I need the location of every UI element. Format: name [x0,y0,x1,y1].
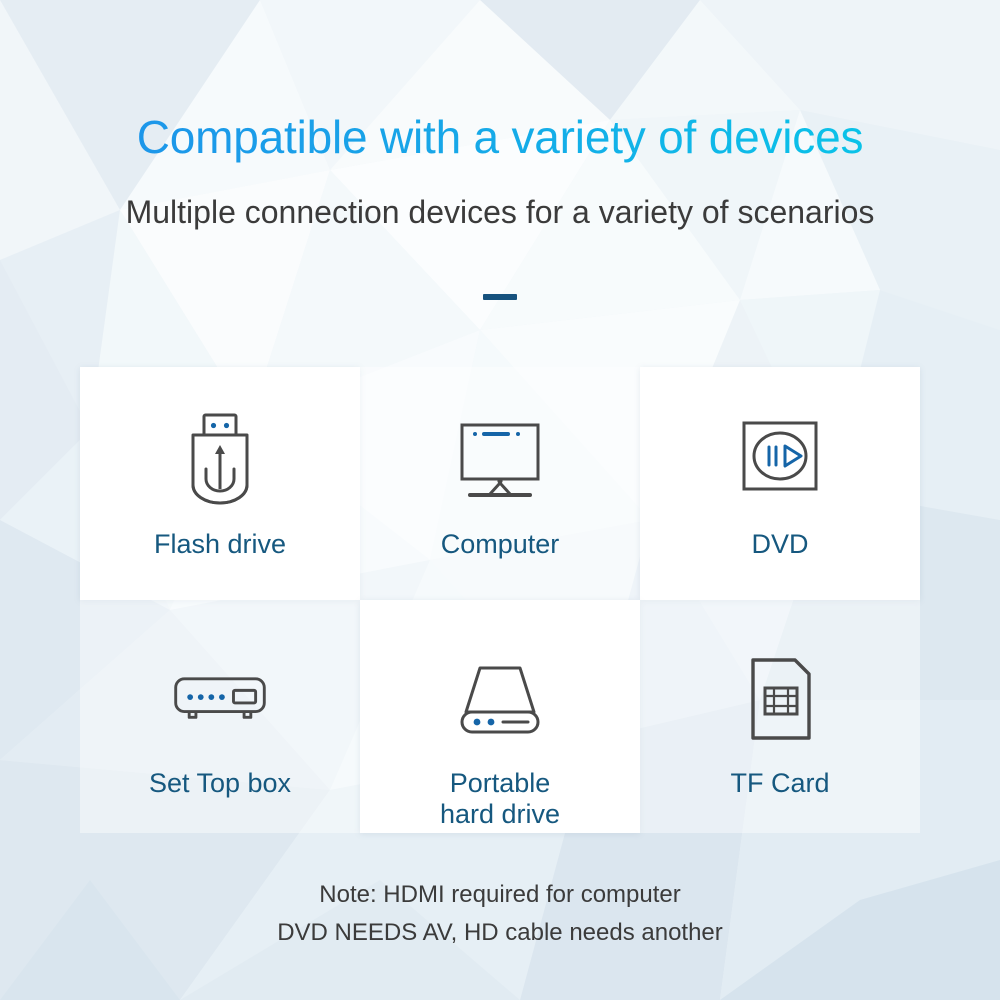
device-card-grid: Flash drive Computer [80,367,920,837]
device-card-set-top-box[interactable]: Set Top box [80,600,360,833]
footer-note-line-2: DVD NEEDS AV, HD cable needs another [0,914,1000,952]
tf-card-icon [728,648,832,752]
device-card-computer[interactable]: Computer [360,367,640,600]
footer-note-line-1: Note: HDMI required for computer [0,876,1000,914]
section-divider [483,294,517,300]
device-card-label: TF Card [730,768,829,799]
page-title: Compatible with a variety of devices [0,108,1000,166]
device-card-dvd[interactable]: DVD [640,367,920,600]
page-subtitle: Multiple connection devices for a variet… [0,192,1000,232]
dvd-player-icon [728,409,832,513]
desktop-monitor-icon [448,409,552,513]
device-card-label: DVD [751,529,808,560]
device-card-label: Portable hard drive [440,768,560,830]
device-card-tf-card[interactable]: TF Card [640,600,920,833]
set-top-box-icon [168,648,272,752]
device-card-label: Set Top box [149,768,291,799]
device-card-label: Computer [441,529,560,560]
footer-note: Note: HDMI required for computer DVD NEE… [0,876,1000,952]
usb-flash-drive-icon [168,409,272,513]
device-card-portable-hard-drive[interactable]: Portable hard drive [360,600,640,833]
promo-banner: Compatible with a variety of devices Mul… [0,0,1000,1000]
device-card-flash-drive[interactable]: Flash drive [80,367,360,600]
portable-hard-drive-icon [448,648,552,752]
device-card-label: Flash drive [154,529,286,560]
